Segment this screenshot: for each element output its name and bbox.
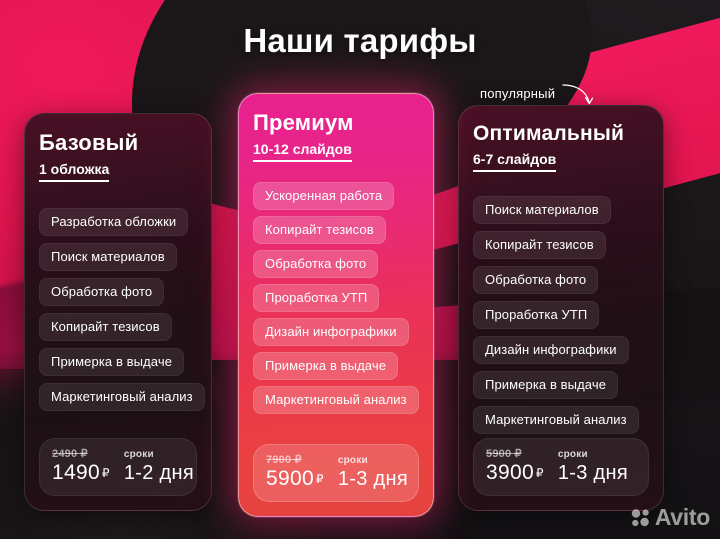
card-subtitle: 1 обложка bbox=[39, 161, 109, 182]
feature-item: Копирайт тезисов bbox=[39, 313, 172, 341]
price-block: 7900 ₽ 5900₽ сроки 1-3 дня bbox=[253, 444, 419, 502]
price-column: 2490 ₽ 1490₽ bbox=[52, 447, 110, 485]
avito-wordmark: Avito bbox=[655, 504, 710, 531]
currency-symbol: ₽ bbox=[316, 472, 324, 486]
term-label: сроки bbox=[338, 455, 408, 466]
feature-item: Дизайн инфографики bbox=[473, 336, 629, 364]
price-column: 7900 ₽ 5900₽ bbox=[266, 453, 324, 491]
feature-item: Поиск материалов bbox=[473, 196, 611, 224]
term-value: 1-2 дня bbox=[124, 462, 194, 485]
term-column: сроки 1-3 дня bbox=[558, 449, 628, 485]
term-label: сроки bbox=[124, 449, 194, 460]
price-block: 5900 ₽ 3900₽ сроки 1-3 дня bbox=[473, 438, 649, 496]
old-price: 5900 ₽ bbox=[486, 447, 544, 460]
avito-dots-icon bbox=[631, 508, 650, 527]
feature-item: Разработка обложки bbox=[39, 208, 188, 236]
card-title: Оптимальный bbox=[473, 122, 649, 146]
feature-item: Копирайт тезисов bbox=[253, 216, 386, 244]
feature-item: Маркетинговый анализ bbox=[253, 386, 419, 414]
term-label: сроки bbox=[558, 449, 628, 460]
pricing-cards: Базовый 1 обложка Разработка обложки Пои… bbox=[0, 0, 720, 539]
currency-symbol: ₽ bbox=[536, 466, 544, 480]
feature-item: Примерка в выдаче bbox=[473, 371, 618, 399]
new-price: 1490₽ bbox=[52, 461, 110, 485]
price-column: 5900 ₽ 3900₽ bbox=[486, 447, 544, 485]
page-title: Наши тарифы bbox=[0, 22, 720, 60]
feature-item: Обработка фото bbox=[39, 278, 164, 306]
term-column: сроки 1-3 дня bbox=[338, 455, 408, 491]
new-price-amount: 5900 bbox=[266, 467, 314, 490]
feature-item: Маркетинговый анализ bbox=[473, 406, 639, 434]
feature-item: Дизайн инфографики bbox=[253, 318, 409, 346]
term-value: 1-3 дня bbox=[338, 468, 408, 491]
card-subtitle: 10-12 слайдов bbox=[253, 141, 352, 162]
price-block: 2490 ₽ 1490₽ сроки 1-2 дня bbox=[39, 438, 197, 496]
old-price: 2490 ₽ bbox=[52, 447, 110, 460]
feature-item: Проработка УТП bbox=[253, 284, 379, 312]
avito-watermark: Avito bbox=[631, 504, 710, 531]
feature-item: Копирайт тезисов bbox=[473, 231, 606, 259]
feature-item: Проработка УТП bbox=[473, 301, 599, 329]
feature-list: Поиск материалов Копирайт тезисов Обрабо… bbox=[473, 196, 649, 434]
feature-item: Поиск материалов bbox=[39, 243, 177, 271]
feature-item: Ускоренная работа bbox=[253, 182, 394, 210]
pricing-card-basic[interactable]: Базовый 1 обложка Разработка обложки Пои… bbox=[24, 113, 212, 511]
feature-item: Примерка в выдаче bbox=[39, 348, 184, 376]
popular-badge-label: популярный bbox=[480, 86, 555, 101]
card-title: Премиум bbox=[253, 110, 419, 136]
feature-list: Ускоренная работа Копирайт тезисов Обраб… bbox=[253, 182, 419, 414]
term-column: сроки 1-2 дня bbox=[124, 449, 194, 485]
feature-item: Маркетинговый анализ bbox=[39, 383, 205, 411]
pricing-card-premium[interactable]: Премиум 10-12 слайдов Ускоренная работа … bbox=[238, 93, 434, 517]
term-value: 1-3 дня bbox=[558, 462, 628, 485]
curved-arrow-down-icon bbox=[561, 82, 597, 108]
new-price-amount: 3900 bbox=[486, 461, 534, 484]
feature-item: Обработка фото bbox=[253, 250, 378, 278]
currency-symbol: ₽ bbox=[102, 466, 110, 480]
pricing-card-optimal[interactable]: Оптимальный 6-7 слайдов Поиск материалов… bbox=[458, 105, 664, 511]
new-price: 5900₽ bbox=[266, 467, 324, 491]
card-subtitle: 6-7 слайдов bbox=[473, 151, 556, 172]
old-price: 7900 ₽ bbox=[266, 453, 324, 466]
new-price: 3900₽ bbox=[486, 461, 544, 485]
new-price-amount: 1490 bbox=[52, 461, 100, 484]
feature-list: Разработка обложки Поиск материалов Обра… bbox=[39, 208, 197, 411]
feature-item: Обработка фото bbox=[473, 266, 598, 294]
popular-badge: популярный bbox=[480, 86, 597, 108]
feature-item: Примерка в выдаче bbox=[253, 352, 398, 380]
card-title: Базовый bbox=[39, 130, 197, 156]
